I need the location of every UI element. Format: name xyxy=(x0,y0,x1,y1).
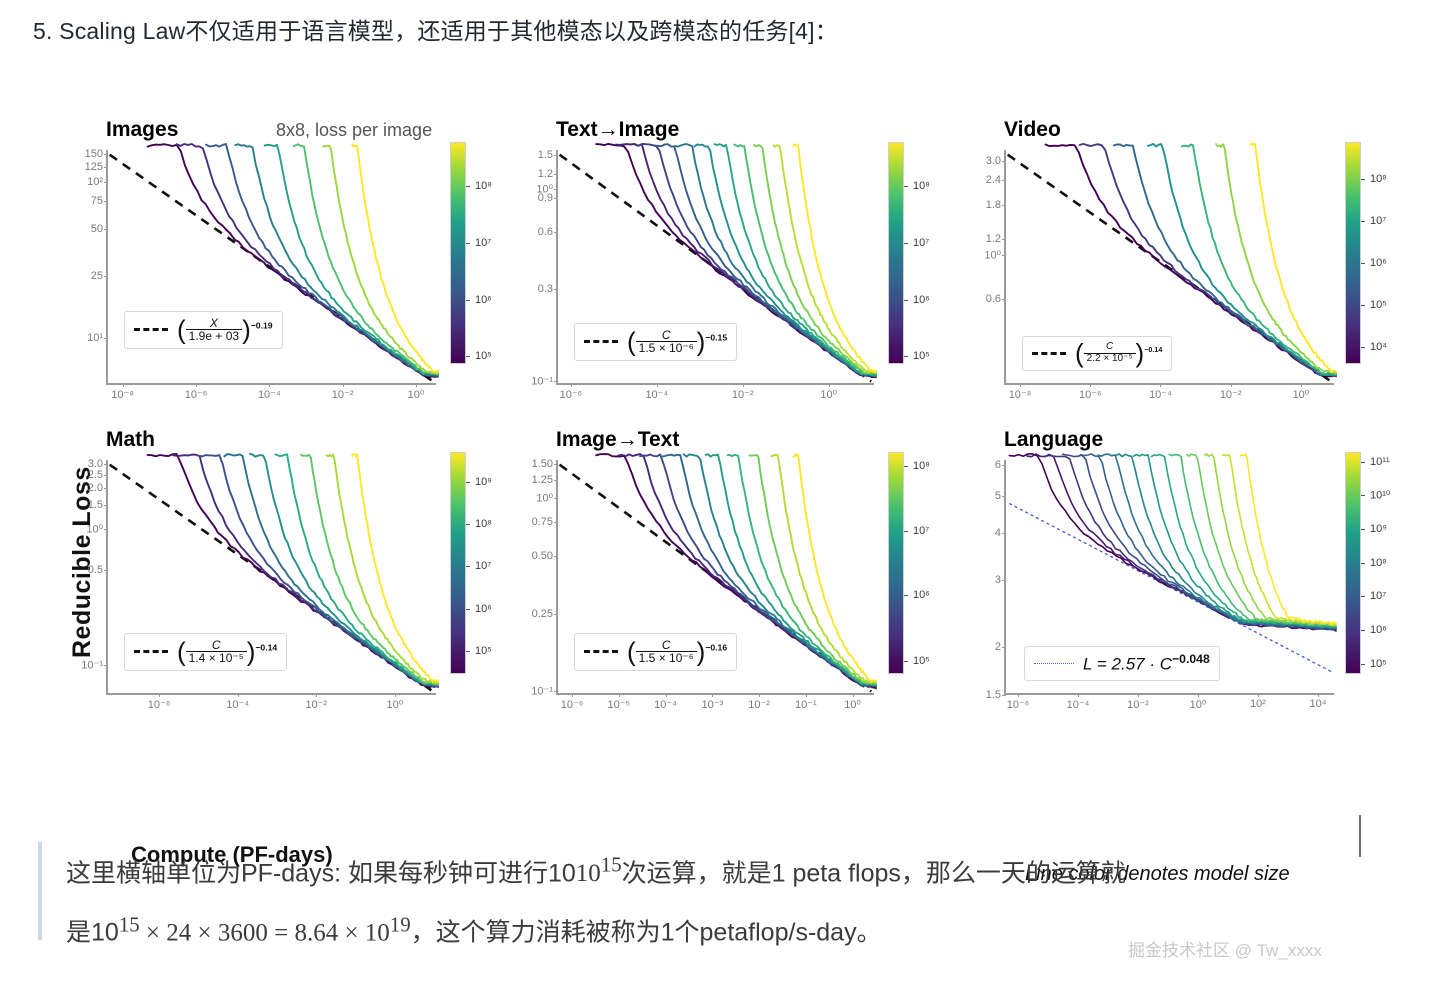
y-tick-label: 10⁰ xyxy=(984,249,1001,262)
x-tick-label: 10⁻⁸ xyxy=(1009,388,1032,401)
colorbar-gradient xyxy=(450,142,466,364)
x-tick-label: 10⁻³ xyxy=(701,698,723,711)
quote-line1-a: 这里横轴单位为PF-days: 如果每秒钟可进行10 xyxy=(66,859,576,887)
model-curve xyxy=(1134,454,1336,627)
x-tick-label: 10⁻⁴ xyxy=(1067,698,1090,711)
x-tick-label: 10⁻⁴ xyxy=(226,698,249,711)
plot-area: 3.02.41.81.210⁰0.610⁻⁸10⁻⁶10⁻⁴10⁻²10⁰(C2… xyxy=(1004,150,1334,385)
x-tick-label: 10⁻⁶ xyxy=(1079,388,1102,401)
colorbar: 10⁸10⁷10⁶10⁵ xyxy=(888,452,904,674)
colorbar-gradient xyxy=(888,452,904,674)
model-curve xyxy=(1009,454,1336,630)
model-curve xyxy=(1205,454,1336,625)
y-tick-label: 0.50 xyxy=(532,550,553,562)
y-tick-label: 2.4 xyxy=(986,174,1001,186)
quote-line2-a: 是10 xyxy=(66,919,119,947)
quote-line1-b: 次运算，就是1 peta flops，那么一天的运算就 xyxy=(622,859,1126,887)
model-curve xyxy=(327,455,438,684)
y-tick-label: 0.75 xyxy=(532,516,553,528)
watermark: 掘金技术社区 @ Tw_xxxx xyxy=(1128,936,1322,961)
colorbar-tick-mark xyxy=(904,531,908,532)
model-curve xyxy=(323,146,438,374)
x-tick-label: 10⁻² xyxy=(1220,388,1242,401)
quote-line2-b: × 24 × 3600 = 8.64 × 10 xyxy=(140,920,390,947)
y-tick-label: 75 xyxy=(91,195,103,207)
plot-area: 3.02.52.01.510⁰0.510⁻¹10⁻⁶10⁻⁴10⁻²10⁰(C1… xyxy=(106,460,436,695)
colorbar-tick-mark xyxy=(1361,529,1365,530)
x-tick-label: 10⁰ xyxy=(386,698,403,711)
colorbar-tick-mark xyxy=(904,356,908,357)
legend-formula: (C1.5 × 10⁻⁶)−0.16 xyxy=(627,639,727,665)
plot-legend: (C1.5 × 10⁻⁶)−0.16 xyxy=(574,633,737,671)
x-tick-label: 10⁻⁶ xyxy=(561,698,584,711)
panel-title: Image→Text xyxy=(556,428,679,452)
panel-title: Video xyxy=(1004,118,1061,142)
y-tick-label: 10⁻¹ xyxy=(81,658,103,671)
y-tick-label: 1.2 xyxy=(986,233,1001,245)
colorbar-tick-mark xyxy=(466,300,470,301)
legend-formula: (C2.2 × 10⁻⁵)−0.14 xyxy=(1075,342,1162,365)
colorbar-tick-mark xyxy=(904,466,908,467)
colorbar-tick-mark xyxy=(1361,221,1365,222)
colorbar-tick-mark xyxy=(904,300,908,301)
plot-area: 15012510²75502510¹10⁻⁸10⁻⁶10⁻⁴10⁻²10⁰(X1… xyxy=(106,150,436,385)
plot-legend: (C1.4 × 10⁻⁵)−0.14 xyxy=(124,633,287,671)
quote-line2-exp1: 15 xyxy=(119,912,140,936)
plot-legend: L = 2.57 · C−0.048 xyxy=(1024,646,1220,681)
model-curve xyxy=(294,144,438,374)
x-tick-label: 10⁴ xyxy=(1310,698,1327,710)
panel-title: Math xyxy=(106,428,155,452)
model-curve xyxy=(1063,454,1336,629)
legend-formula: (C1.4 × 10⁻⁵)−0.14 xyxy=(177,639,277,665)
plot-legend: (C1.5 × 10⁻⁶)−0.15 xyxy=(574,323,737,361)
plot-legend: (X1.9e + 03)−0.19 xyxy=(124,311,283,349)
quote-line2-c: ，这个算力消耗被称为1个petaflop/s-day。 xyxy=(411,919,882,947)
colorbar-tick-mark xyxy=(1361,596,1365,597)
x-tick-label: 10⁻⁴ xyxy=(645,388,668,401)
x-tick-label: 10⁻² xyxy=(332,388,354,401)
colorbar-tick-mark xyxy=(1361,563,1365,564)
colorbar-tick-mark xyxy=(466,524,470,525)
page-title: 5. Scaling Law不仅适用于语言模型，还适用于其他模态以及跨模态的任务… xyxy=(33,12,838,46)
y-tick-mark xyxy=(1002,695,1006,696)
x-tick-label: 10⁰ xyxy=(844,698,861,711)
quote-bar xyxy=(38,842,42,940)
y-tick-label: 0.9 xyxy=(538,192,553,204)
y-tick-label: 1.2 xyxy=(538,168,553,180)
colorbar-tick-mark xyxy=(1361,664,1365,665)
y-tick-label: 4 xyxy=(995,527,1001,539)
colorbar-gradient xyxy=(450,452,466,674)
y-tick-label: 1.5 xyxy=(986,689,1001,701)
y-tick-label: 1.50 xyxy=(532,458,553,470)
colorbar-tick-mark xyxy=(1361,263,1365,264)
y-tick-label: 2.0 xyxy=(88,482,103,494)
colorbar-tick-mark xyxy=(904,661,908,662)
legend-dashed-line xyxy=(584,340,618,343)
x-tick-label: 10⁻⁴ xyxy=(258,388,281,401)
y-tick-label: 1.8 xyxy=(986,199,1001,211)
y-tick-label: 10² xyxy=(87,176,103,188)
x-tick-label: 10⁻² xyxy=(1127,698,1149,711)
curve-layer xyxy=(108,150,438,385)
y-tick-label: 0.3 xyxy=(538,283,553,295)
x-tick-label: 10⁻² xyxy=(732,388,754,401)
legend-dotted-line xyxy=(1034,663,1074,664)
colorbar-tick-label: 10¹⁰ xyxy=(1361,489,1390,502)
y-tick-label: 10⁻¹ xyxy=(531,374,553,387)
quote-line1-exp: 15 xyxy=(601,853,622,877)
x-tick-label: 10⁻¹ xyxy=(795,698,817,711)
colorbar-tick-mark xyxy=(904,595,908,596)
x-tick-label: 10⁻⁵ xyxy=(607,698,630,711)
model-curve xyxy=(1187,454,1336,625)
model-curve xyxy=(301,455,438,685)
colorbar-tick-mark xyxy=(1361,305,1365,306)
model-curve xyxy=(352,144,438,372)
model-curve xyxy=(1240,454,1336,624)
colorbar-gradient xyxy=(888,142,904,364)
colorbar-tick-mark xyxy=(904,186,908,187)
x-tick-label: 10⁻² xyxy=(305,698,327,711)
figure-panel-grid: Reducible Loss Compute (PF-days) Line co… xyxy=(0,100,1448,810)
legend-dashed-line xyxy=(134,328,168,331)
colorbar-tick-mark xyxy=(466,482,470,483)
figure-y-axis-label: Reducible Loss xyxy=(34,370,74,670)
x-tick-label: 10⁰ xyxy=(1190,698,1207,711)
x-tick-label: 10⁻² xyxy=(748,698,770,711)
y-tick-label: 2.5 xyxy=(88,469,103,481)
x-tick-label: 10⁻⁴ xyxy=(1149,388,1172,401)
colorbar-tick-mark xyxy=(904,243,908,244)
y-tick-label: 0.25 xyxy=(532,608,553,620)
legend-formula: (C1.5 × 10⁻⁶)−0.15 xyxy=(627,329,727,355)
colorbar-tick-mark xyxy=(1361,495,1365,496)
colorbar-tick-mark xyxy=(1361,462,1365,463)
x-tick-label: 10⁰ xyxy=(820,388,837,401)
panel-title: Images xyxy=(106,118,178,142)
x-tick-label: 10⁻⁶ xyxy=(1007,698,1030,711)
x-tick-label: 10⁻⁶ xyxy=(148,698,171,711)
y-tick-label: 2 xyxy=(995,641,1001,653)
legend-dashed-line xyxy=(1032,352,1066,355)
colorbar-tick-mark xyxy=(1361,179,1365,180)
x-tick-label: 10² xyxy=(1250,698,1266,710)
x-tick-label: 10⁻⁴ xyxy=(654,698,677,711)
y-tick-label: 10⁰ xyxy=(86,522,103,535)
plot-area: 654321.510⁻⁶10⁻⁴10⁻²10⁰10²10⁴L = 2.57 · … xyxy=(1004,460,1334,695)
model-curve xyxy=(774,145,876,373)
model-curve xyxy=(771,455,876,683)
y-tick-label: 3 xyxy=(995,574,1001,586)
y-tick-label: 10⁻¹ xyxy=(531,684,553,697)
colorbar-tick-label: 10¹¹ xyxy=(1361,456,1390,468)
colorbar-tick-mark xyxy=(1361,630,1365,631)
model-curve xyxy=(715,144,877,375)
x-tick-label: 10⁰ xyxy=(408,388,425,401)
model-curve xyxy=(793,144,876,372)
model-curve xyxy=(1116,454,1336,628)
x-tick-label: 10⁻⁶ xyxy=(185,388,208,401)
legend-formula: (X1.9e + 03)−0.19 xyxy=(177,317,273,343)
colorbar: 10⁸10⁷10⁶10⁵ xyxy=(450,142,466,364)
y-tick-label: 0.6 xyxy=(986,293,1001,305)
colorbar: 10⁹10⁸10⁷10⁶10⁵ xyxy=(450,452,466,674)
colorbar-tick-mark xyxy=(1361,347,1365,348)
y-tick-label: 1.25 xyxy=(532,474,553,486)
colorbar-tick-mark xyxy=(466,609,470,610)
colorbar-tick-mark xyxy=(466,566,470,567)
colorbar-tick-mark xyxy=(466,186,470,187)
y-tick-label: 10¹ xyxy=(87,332,103,344)
y-tick-label: 5 xyxy=(995,490,1001,502)
x-tick-label: 10⁰ xyxy=(1293,388,1310,401)
x-tick-label: 10⁻⁶ xyxy=(560,388,583,401)
y-tick-label: 0.5 xyxy=(88,564,103,576)
plot-area: 1.51.210⁰0.90.60.310⁻¹10⁻⁶10⁻⁴10⁻²10⁰(C1… xyxy=(556,150,874,385)
model-curve xyxy=(1027,454,1336,631)
colorbar: 10⁸10⁷10⁶10⁵10⁴ xyxy=(1345,142,1361,364)
colorbar-gradient xyxy=(1345,142,1361,364)
y-tick-label: 0.6 xyxy=(538,226,553,238)
y-tick-label: 25 xyxy=(91,270,103,282)
y-tick-label: 125 xyxy=(85,161,103,173)
y-tick-label: 1.5 xyxy=(538,149,553,161)
colorbar: 10⁸10⁷10⁶10⁵ xyxy=(888,142,904,364)
colorbar-tick-mark xyxy=(466,356,470,357)
model-curve xyxy=(1152,455,1337,628)
quote-line2-exp2: 19 xyxy=(390,912,411,936)
colorbar-gradient xyxy=(1345,452,1361,674)
legend-dashed-line xyxy=(584,650,618,653)
model-curve xyxy=(793,454,876,682)
panel-title: Text→Image xyxy=(556,118,679,142)
colorbar-tick-mark xyxy=(466,651,470,652)
model-curve xyxy=(1250,144,1336,372)
panel-title: Language xyxy=(1004,428,1103,452)
y-tick-label: 50 xyxy=(91,223,103,235)
plot-legend: (C2.2 × 10⁻⁵)−0.14 xyxy=(1022,336,1172,371)
y-tick-label: 1.5 xyxy=(88,499,103,511)
y-tick-label: 10⁰ xyxy=(536,492,553,505)
model-curve xyxy=(352,454,438,682)
colorbar: 10¹¹10¹⁰10⁹10⁸10⁷10⁶10⁵ xyxy=(1345,452,1361,674)
colorbar-tick-mark xyxy=(466,243,470,244)
legend-dashed-line xyxy=(134,650,168,653)
x-tick-label: 10⁻⁸ xyxy=(111,388,134,401)
model-curve xyxy=(1045,454,1336,629)
panel-subtitle: 8x8, loss per image xyxy=(276,120,432,141)
y-tick-label: 3.0 xyxy=(986,155,1001,167)
plot-area: 1.501.2510⁰0.750.500.2510⁻¹10⁻⁶10⁻⁵10⁻⁴1… xyxy=(556,460,874,695)
y-tick-label: 6 xyxy=(995,459,1001,471)
legend-formula: L = 2.57 · C−0.048 xyxy=(1083,652,1210,675)
y-tick-label: 150 xyxy=(85,148,103,160)
